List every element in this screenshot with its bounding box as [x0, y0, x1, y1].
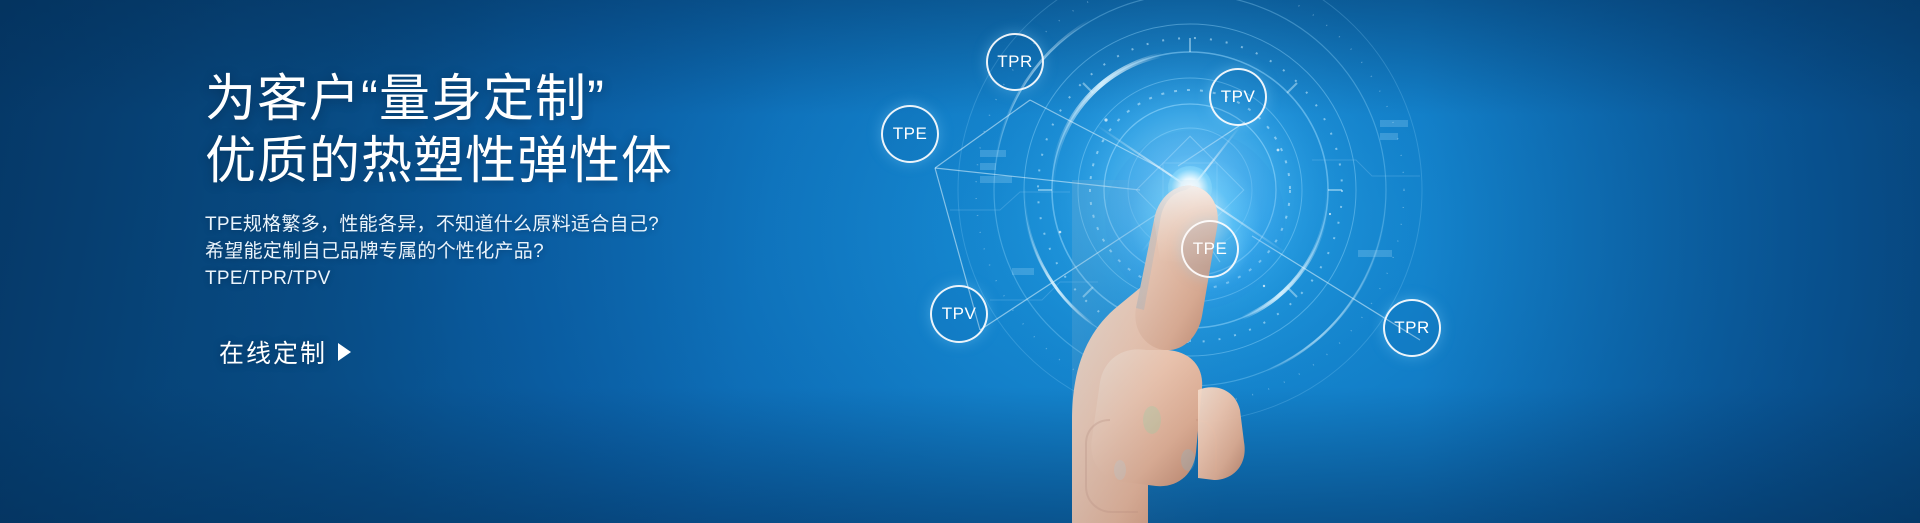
node-badge-label: TPE	[893, 124, 928, 144]
node-badge-label: TPR	[1394, 318, 1430, 338]
hero-copy: 为客户“量身定制” 优质的热塑性弹性体 TPE规格繁多，性能各异，不知道什么原料…	[205, 68, 905, 370]
node-badge-tpv-4[interactable]: TPV	[930, 285, 988, 343]
node-badge-tpr-5[interactable]: TPR	[1383, 299, 1441, 357]
node-badge-tpe-2[interactable]: TPE	[881, 105, 939, 163]
subtitle-line-1: TPE规格繁多，性能各异，不知道什么原料适合自己?	[205, 211, 905, 238]
page-title: 为客户“量身定制” 优质的热塑性弹性体	[205, 68, 905, 192]
cta-label: 在线定制	[219, 334, 327, 370]
headline-line-1: 为客户“量身定制”	[205, 70, 605, 127]
node-badge-label: TPV	[1221, 87, 1256, 107]
node-badge-tpv-1[interactable]: TPV	[1209, 68, 1267, 126]
pointing-hand-icon	[940, 120, 1360, 523]
node-badge-tpe-3[interactable]: TPE	[1181, 220, 1239, 278]
hero-subtitle: TPE规格繁多，性能各异，不知道什么原料适合自己? 希望能定制自己品牌专属的个性…	[205, 211, 905, 292]
node-badge-tpr-0[interactable]: TPR	[986, 33, 1044, 91]
subtitle-line-3: TPE/TPR/TPV	[205, 265, 905, 292]
headline-line-2: 优质的热塑性弹性体	[205, 130, 905, 192]
node-badge-label: TPR	[997, 52, 1033, 72]
online-customization-button[interactable]: 在线定制	[219, 334, 351, 370]
subtitle-line-2: 希望能定制自己品牌专属的个性化产品?	[205, 238, 905, 265]
node-badge-label: TPE	[1193, 239, 1228, 259]
play-triangle-icon	[338, 343, 351, 361]
node-badge-label: TPV	[942, 304, 977, 324]
hero-banner: TPRTPVTPETPETPVTPR 为客户“量身定制” 优质的热塑性弹性体 T…	[0, 0, 1920, 523]
